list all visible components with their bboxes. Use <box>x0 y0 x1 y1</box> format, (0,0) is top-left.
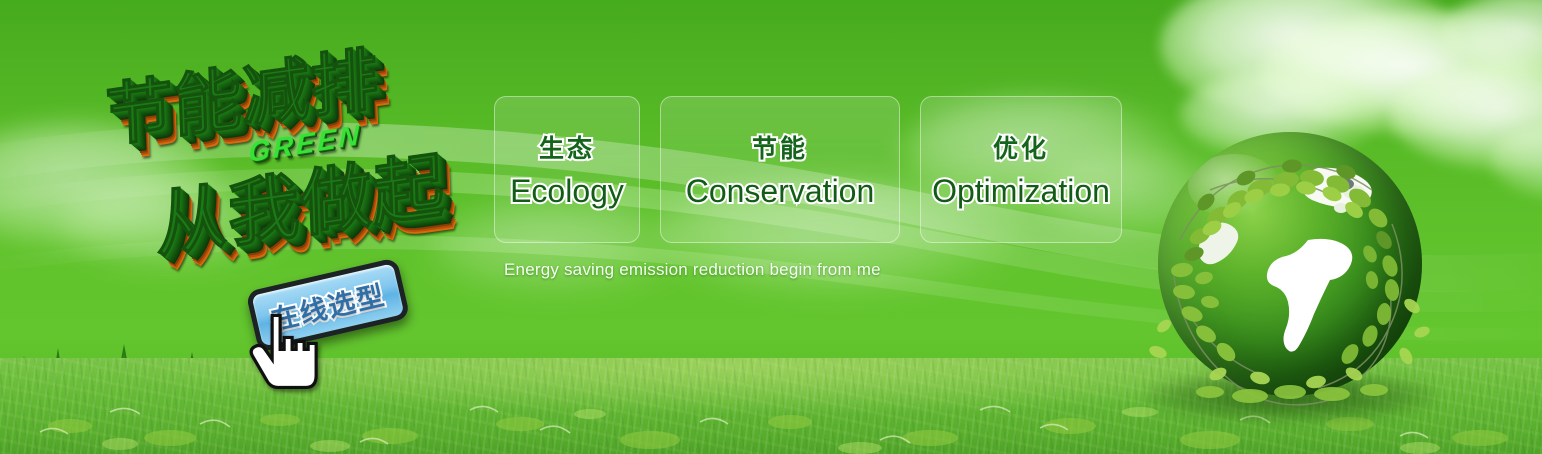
globe-highlight <box>1188 154 1280 218</box>
online-selection-label: 在线选型 <box>267 273 389 337</box>
clouds-icon <box>1490 120 1542 200</box>
headline-3d-art: 节能减排 GREEN 从我做起 <box>96 34 496 274</box>
clouds-icon <box>1440 0 1542 80</box>
clouds-icon <box>1160 0 1460 120</box>
green-energy-banner: 节能减排 GREEN 从我做起 在线选型 生态 Ecology 节能 Conse… <box>0 0 1542 454</box>
banner-tagline: Energy saving emission reduction begin f… <box>504 260 881 280</box>
feature-card-cn-label: 优化 <box>993 129 1049 165</box>
feature-card-cn-label: 生态 <box>539 129 595 165</box>
feature-card-en-label: Ecology <box>510 173 624 210</box>
feature-card-ecology[interactable]: 生态 Ecology <box>494 96 640 243</box>
globe-sphere <box>1158 132 1422 396</box>
feature-cards: 生态 Ecology 节能 Conservation 优化 Optimizati… <box>494 96 1122 243</box>
feature-card-conservation[interactable]: 节能 Conservation <box>660 96 900 243</box>
feature-card-cn-label: 节能 <box>752 129 808 165</box>
clouds-icon <box>1260 10 1542 135</box>
feature-card-en-label: Optimization <box>932 173 1110 210</box>
leafy-globe-icon <box>1140 120 1440 420</box>
feature-card-optimization[interactable]: 优化 Optimization <box>920 96 1122 243</box>
feature-card-en-label: Conservation <box>686 173 875 210</box>
